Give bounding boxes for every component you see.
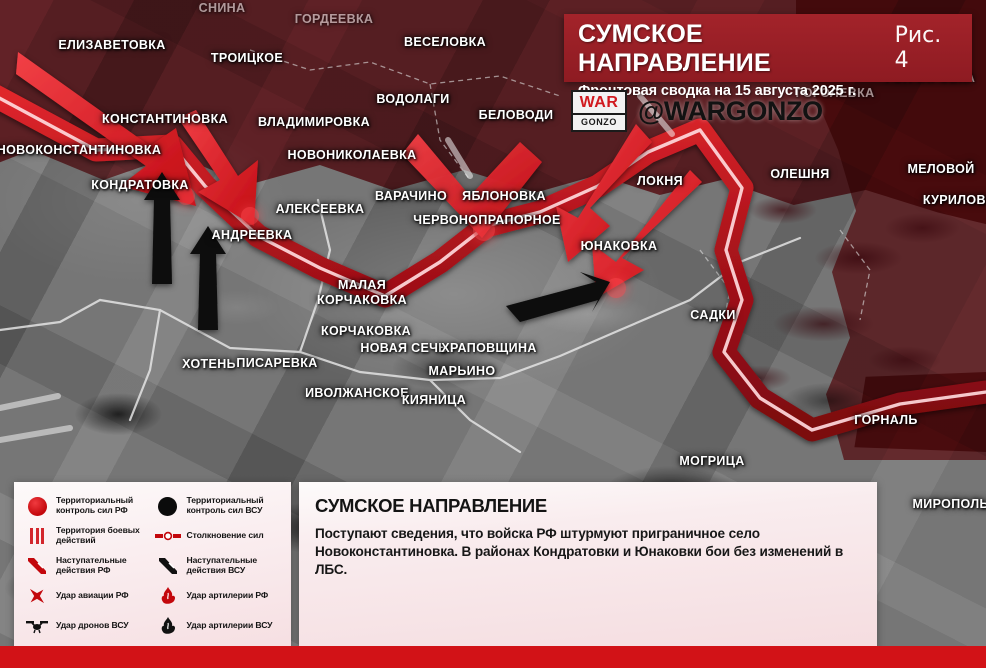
legend-item: Удар авиации РФ <box>24 581 153 611</box>
black-artillery-strike-icon <box>155 613 181 639</box>
black-drone-strike-icon <box>24 613 50 639</box>
logo-gonzo-text: GONZO <box>581 115 617 127</box>
legend-item-label: Территориальный контроль сил ВСУ <box>187 496 284 516</box>
legend-item: Наступательные действия РФ <box>24 551 153 581</box>
legend-item-label: Столкновение сил <box>187 531 264 541</box>
red-filled-circle-icon <box>24 493 50 519</box>
social-handle: @WARGONZO <box>638 96 823 127</box>
logo-war-text: WAR <box>573 95 625 115</box>
legend-item-label: Удар артилерии РФ <box>187 591 269 601</box>
legend-item: Территория боевых действий <box>24 521 153 551</box>
page-title: СУМСКОЕ НАПРАВЛЕНИЕ <box>578 20 883 78</box>
red-aircraft-strike-icon <box>24 583 50 609</box>
wargonzo-logo: WAR GONZO <box>571 90 627 132</box>
legend-item: Удар артилерии РФ <box>155 581 284 611</box>
legend-item-label: Наступательные действия ВСУ <box>187 556 284 576</box>
brand-watermark: WAR GONZO @WARGONZO <box>571 90 823 132</box>
header-banner: СУМСКОЕ НАПРАВЛЕНИЕ Рис. 4 Фронтовая сво… <box>564 14 972 82</box>
legend-item-label: Удар артилерии ВСУ <box>187 621 273 631</box>
bottom-red-bar <box>0 646 986 668</box>
summary-panel: СУМСКОЕ НАПРАВЛЕНИЕ Поступают сведения, … <box>299 482 877 648</box>
summary-title: СУМСКОЕ НАПРАВЛЕНИЕ <box>315 495 861 517</box>
legend-item: Удар артилерии ВСУ <box>155 611 284 641</box>
infographic-map-page: СНИНАГОРДЕЕВКАВЕСЕЛОВКАЕЛИЗАВЕТОВКАТРОИЦ… <box>0 0 986 668</box>
figure-number: Рис. 4 <box>895 23 958 73</box>
black-offensive-arrow-icon <box>155 553 181 579</box>
legend-item-label: Территория боевых действий <box>56 526 153 546</box>
legend-item-label: Удар авиации РФ <box>56 591 129 601</box>
legend-item: Территориальный контроль сил РФ <box>24 491 153 521</box>
legend-item: Удар дронов ВСУ <box>24 611 153 641</box>
clash-of-forces-icon <box>155 523 181 549</box>
legend-item-label: Удар дронов ВСУ <box>56 621 129 631</box>
red-hatched-bars-icon <box>24 523 50 549</box>
map-legend: Территориальный контроль сил РФТерритори… <box>14 482 291 648</box>
legend-item-label: Территориальный контроль сил РФ <box>56 496 153 516</box>
legend-item-label: Наступательные действия РФ <box>56 556 153 576</box>
legend-item: Столкновение сил <box>155 521 284 551</box>
legend-item: Территориальный контроль сил ВСУ <box>155 491 284 521</box>
black-filled-circle-icon <box>155 493 181 519</box>
red-offensive-arrow-icon <box>24 553 50 579</box>
summary-text: Поступают сведения, что войска РФ штурму… <box>315 525 861 579</box>
legend-item: Наступательные действия ВСУ <box>155 551 284 581</box>
red-artillery-strike-icon <box>155 583 181 609</box>
